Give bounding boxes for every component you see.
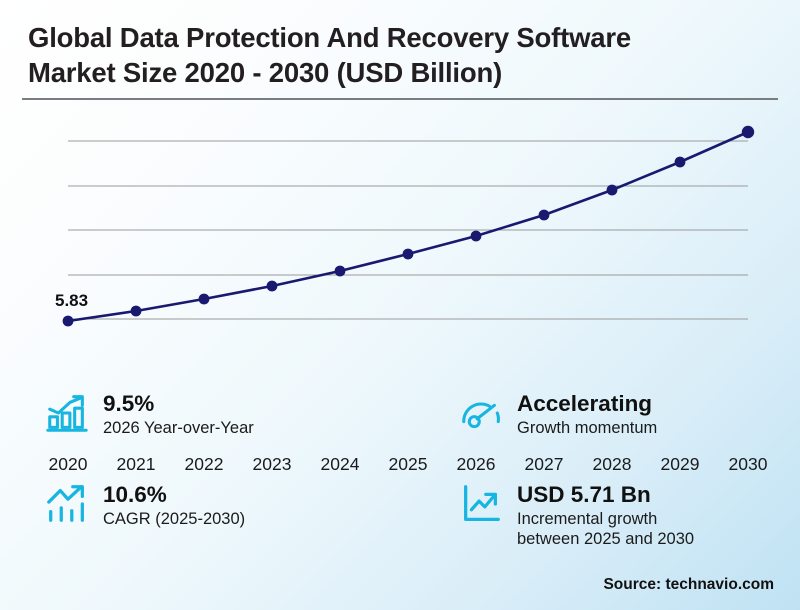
chart-svg: 5.83	[0, 110, 800, 375]
stat-caption: Incremental growth between 2025 and 2030	[517, 510, 694, 550]
line-chart: 5.83 2020 2021 2022 2023 2024 2025 2026 …	[0, 110, 800, 375]
stat-value: 9.5%	[103, 391, 154, 416]
stat-caption: 2026 Year-over-Year	[103, 419, 254, 439]
stat-momentum: Accelerating Growth momentum	[458, 390, 657, 439]
data-point-2022	[199, 294, 210, 305]
stat-text: 9.5% 2026 Year-over-Year	[103, 390, 254, 439]
data-point-2027	[539, 210, 550, 221]
speedometer-icon	[458, 390, 504, 436]
trend-up-bars-icon	[44, 481, 90, 527]
trend-line	[68, 132, 748, 321]
data-points	[63, 126, 755, 327]
data-point-2025	[403, 249, 414, 260]
axis-trend-arrow-icon	[458, 481, 504, 527]
stat-caption: CAGR (2025-2030)	[103, 510, 245, 530]
data-point-2029	[675, 157, 686, 168]
stats-grid: 9.5% 2026 Year-over-Year 10.6% CAGR (202…	[0, 384, 800, 564]
data-point-2030	[742, 126, 754, 138]
stat-cagr: 10.6% CAGR (2025-2030)	[44, 481, 245, 530]
stat-yoy: 9.5% 2026 Year-over-Year	[44, 390, 254, 439]
bar-chart-growth-icon	[44, 390, 90, 436]
stat-text: 10.6% CAGR (2025-2030)	[103, 481, 245, 530]
gridlines	[68, 141, 748, 319]
data-point-2026	[471, 231, 482, 242]
data-point-2024	[335, 266, 346, 277]
stat-value: USD 5.71 Bn	[517, 482, 651, 507]
data-point-2028	[607, 185, 618, 196]
title-line-2: Market Size 2020 - 2030 (USD Billion)	[28, 55, 788, 90]
stat-incremental-growth: USD 5.71 Bn Incremental growth between 2…	[458, 481, 694, 550]
data-point-2020	[63, 316, 74, 327]
infographic-root: Global Data Protection And Recovery Soft…	[0, 0, 800, 610]
title-line-1: Global Data Protection And Recovery Soft…	[28, 20, 788, 55]
stat-text: USD 5.71 Bn Incremental growth between 2…	[517, 481, 694, 550]
data-label-2020: 5.83	[55, 291, 88, 310]
page-title: Global Data Protection And Recovery Soft…	[28, 20, 788, 90]
stat-value: Accelerating	[517, 391, 652, 416]
stat-value: 10.6%	[103, 482, 167, 507]
data-point-2021	[131, 306, 142, 317]
title-divider	[22, 98, 778, 100]
source-label: Source: technavio.com	[603, 576, 774, 594]
stat-text: Accelerating Growth momentum	[517, 390, 657, 439]
stat-caption: Growth momentum	[517, 419, 657, 439]
data-point-2023	[267, 281, 278, 292]
